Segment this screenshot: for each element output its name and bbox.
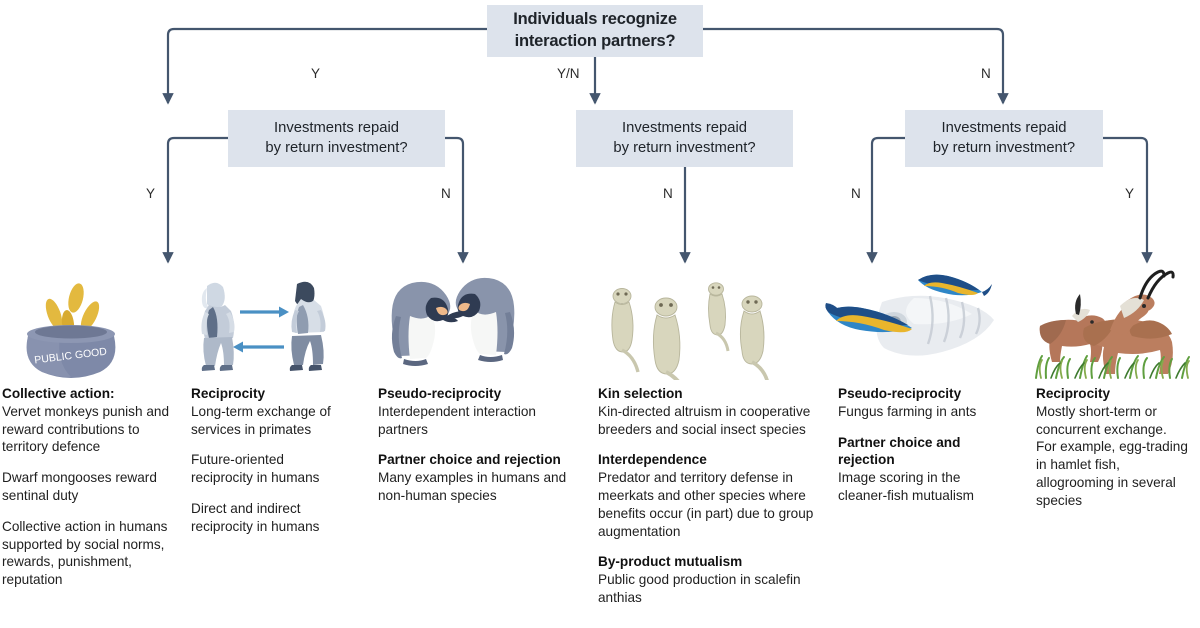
block-body: Predator and territory defense in meerka…	[598, 470, 813, 538]
block-heading: Kin selection	[598, 386, 683, 401]
col-collective-action: Collective action:Vervet monkeys punish …	[2, 385, 180, 589]
block-body: Mostly short-term or concurrent exchange…	[1036, 404, 1188, 508]
edge-label-root-middle: Y/N	[557, 67, 580, 81]
meerkats-illustration	[598, 276, 778, 380]
block-body: Kin-directed altruism in cooperative bre…	[598, 404, 810, 437]
cleaner-fish-illustration	[822, 268, 997, 376]
block-body: Future-oriented reciprocity in humans	[191, 452, 319, 485]
human-exchange-illustration	[185, 272, 340, 378]
question-box-right: Investments repaid by return investment?	[905, 110, 1103, 167]
text-block: Kin selectionKin-directed altruism in co…	[598, 385, 820, 438]
edge-label-root-left: Y	[311, 67, 320, 81]
question-box-middle-line2: by return investment?	[613, 140, 755, 156]
col-pseudo-reciprocity-ants: Pseudo-reciprocityFungus farming in ants…	[838, 385, 988, 505]
root-question-line1: Individuals recognize	[513, 10, 677, 28]
text-block: By-product mutualismPublic good producti…	[598, 553, 820, 606]
col-kin-selection: Kin selectionKin-directed altruism in co…	[598, 385, 820, 607]
text-block: Collective action in humans supported by…	[2, 518, 180, 589]
edge-label-root-right: N	[981, 67, 991, 81]
text-block: Pseudo-reciprocityFungus farming in ants	[838, 385, 988, 421]
impalas-illustration	[1032, 268, 1194, 380]
block-body: Collective action in humans supported by…	[2, 519, 167, 587]
block-body: Image scoring in the cleaner-fish mutual…	[838, 470, 974, 503]
text-block: InterdependencePredator and territory de…	[598, 451, 820, 540]
question-box-left: Investments repaid by return investment?	[228, 110, 445, 167]
block-heading: Partner choice and rejection	[838, 435, 960, 468]
block-heading: Pseudo-reciprocity	[838, 386, 961, 401]
edge-right-n	[872, 138, 905, 262]
block-body: Dwarf mongooses reward sentinal duty	[2, 470, 157, 503]
question-box-right-line2: by return investment?	[933, 140, 1075, 156]
block-body: Public good production in scalefin anthi…	[598, 572, 801, 605]
col-reciprocity-fish: ReciprocityMostly short-term or concurre…	[1036, 385, 1188, 510]
question-box-middle-line1: Investments repaid	[622, 120, 747, 136]
block-heading: Pseudo-reciprocity	[378, 386, 501, 401]
penguins-illustration	[374, 266, 532, 378]
block-body: Many examples in humans and non-human sp…	[378, 470, 566, 503]
edge-root-to-left	[168, 29, 487, 103]
text-block: Partner choice and rejectionMany example…	[378, 451, 588, 504]
root-question-line2: interaction partners?	[515, 32, 676, 50]
edge-label-right-n: N	[851, 187, 861, 201]
block-heading: By-product mutualism	[598, 554, 742, 569]
text-block: ReciprocityLong-term exchange of service…	[191, 385, 343, 438]
col-reciprocity-primates: ReciprocityLong-term exchange of service…	[191, 385, 343, 536]
block-body: Vervet monkeys punish and reward contrib…	[2, 404, 169, 455]
question-box-middle: Investments repaid by return investment?	[576, 110, 793, 167]
block-body: Fungus farming in ants	[838, 404, 976, 419]
text-block: Partner choice and rejectionImage scorin…	[838, 434, 988, 505]
block-heading: Reciprocity	[191, 386, 265, 401]
text-block: Future-oriented reciprocity in humans	[191, 451, 343, 487]
question-box-right-line1: Investments repaid	[941, 120, 1066, 136]
text-block: Collective action:Vervet monkeys punish …	[2, 385, 180, 456]
edge-left-y	[168, 138, 228, 262]
block-heading: Collective action:	[2, 386, 115, 401]
col-pseudo-reciprocity-penguins: Pseudo-reciprocityInterdependent interac…	[378, 385, 588, 505]
question-box-left-line1: Investments repaid	[274, 120, 399, 136]
text-block: Pseudo-reciprocityInterdependent interac…	[378, 385, 588, 438]
block-heading: Reciprocity	[1036, 386, 1110, 401]
text-block: ReciprocityMostly short-term or concurre…	[1036, 385, 1188, 510]
block-heading: Interdependence	[598, 452, 707, 467]
text-block: Dwarf mongooses reward sentinal duty	[2, 469, 180, 505]
question-box-left-line2: by return investment?	[265, 140, 407, 156]
block-body: Long-term exchange of services in primat…	[191, 404, 331, 437]
edge-root-to-right	[703, 29, 1003, 103]
block-heading: Partner choice and rejection	[378, 452, 561, 467]
edge-label-left-y: Y	[146, 187, 155, 201]
edge-label-right-y: Y	[1125, 187, 1134, 201]
block-body: Interdependent interaction partners	[378, 404, 536, 437]
text-block: Direct and indirect reciprocity in human…	[191, 500, 343, 536]
public-good-pot-illustration: PUBLIC GOOD	[12, 266, 130, 378]
edge-label-left-n: N	[441, 187, 451, 201]
edge-label-middle-n: N	[663, 187, 673, 201]
block-body: Direct and indirect reciprocity in human…	[191, 501, 319, 534]
root-question-box: Individuals recognize interaction partne…	[487, 5, 703, 57]
